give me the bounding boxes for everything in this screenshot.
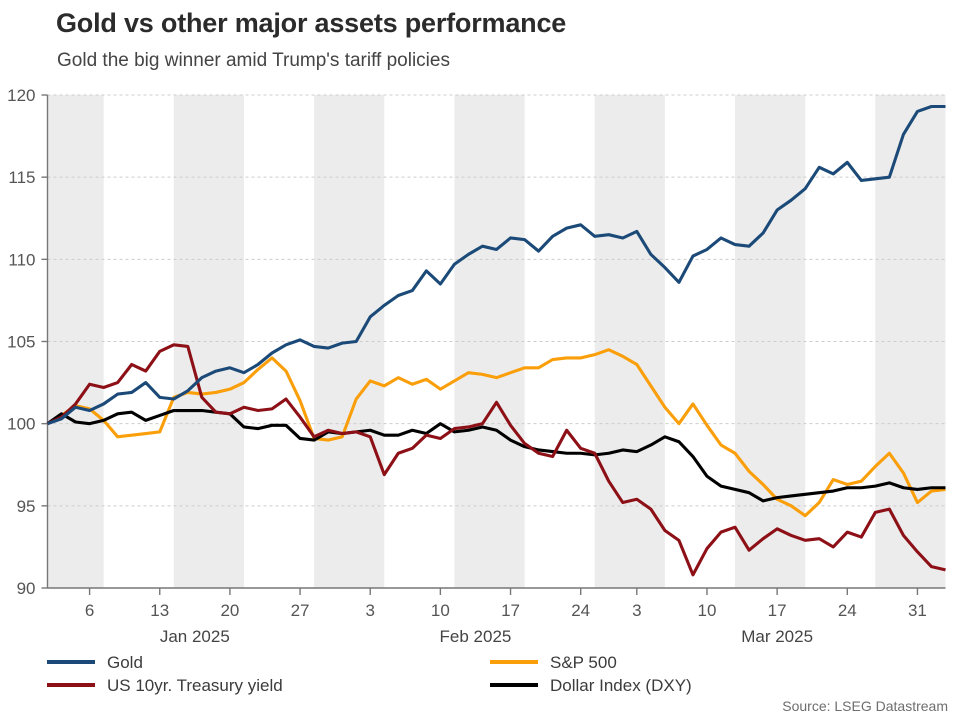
legend-label: S&P 500	[550, 653, 617, 672]
x-axis-tick-label: 27	[291, 601, 310, 620]
x-axis-tick-label: 10	[431, 601, 450, 620]
x-axis-tick-label: 6	[85, 601, 94, 620]
x-axis-tick-label: 24	[571, 601, 590, 620]
legend-item[interactable]: S&P 500	[490, 653, 617, 672]
y-axis-tick-label: 100	[7, 415, 35, 434]
x-axis-month-labels: Jan 2025Feb 2025Mar 2025	[160, 627, 813, 646]
x-axis-tick-label: 3	[632, 601, 641, 620]
legend-label: Dollar Index (DXY)	[550, 676, 692, 695]
y-axis-tick-label: 95	[17, 497, 36, 516]
legend-label: US 10yr. Treasury yield	[107, 676, 283, 695]
x-axis-tick-label: 24	[838, 601, 857, 620]
background-band	[875, 95, 945, 588]
legend-item[interactable]: US 10yr. Treasury yield	[47, 676, 283, 695]
chart-plot: 9095100105110115120 61320273101724310172…	[0, 0, 960, 720]
chart-legend: GoldUS 10yr. Treasury yieldS&P 500Dollar…	[47, 653, 692, 695]
x-axis-tick-label: 3	[365, 601, 374, 620]
x-axis-tick-label: 17	[768, 601, 787, 620]
x-axis-tick-label: 13	[150, 601, 169, 620]
source-attribution: Source: LSEG Datastream	[782, 698, 948, 714]
y-axis-tick-label: 115	[8, 168, 35, 187]
x-axis-month-label: Jan 2025	[160, 627, 230, 646]
chart-card: Gold vs other major assets performance G…	[0, 0, 960, 720]
x-axis-tick-label: 20	[220, 601, 239, 620]
y-axis-tick-label: 110	[8, 250, 35, 269]
y-axis-tick-label: 105	[7, 333, 35, 352]
y-axis: 9095100105110115120	[7, 86, 47, 598]
legend-item[interactable]: Gold	[47, 653, 143, 672]
x-axis-tick-label: 10	[698, 601, 717, 620]
x-axis: 61320273101724310172431	[48, 588, 946, 620]
background-band	[174, 95, 244, 588]
x-axis-month-label: Feb 2025	[440, 627, 512, 646]
legend-label: Gold	[107, 653, 143, 672]
x-axis-month-label: Mar 2025	[741, 627, 813, 646]
y-axis-tick-label: 120	[7, 86, 35, 105]
legend-item[interactable]: Dollar Index (DXY)	[490, 676, 692, 695]
x-axis-tick-label: 31	[908, 601, 927, 620]
background-band	[454, 95, 524, 588]
x-axis-tick-label: 17	[501, 601, 520, 620]
y-axis-tick-label: 90	[17, 579, 36, 598]
